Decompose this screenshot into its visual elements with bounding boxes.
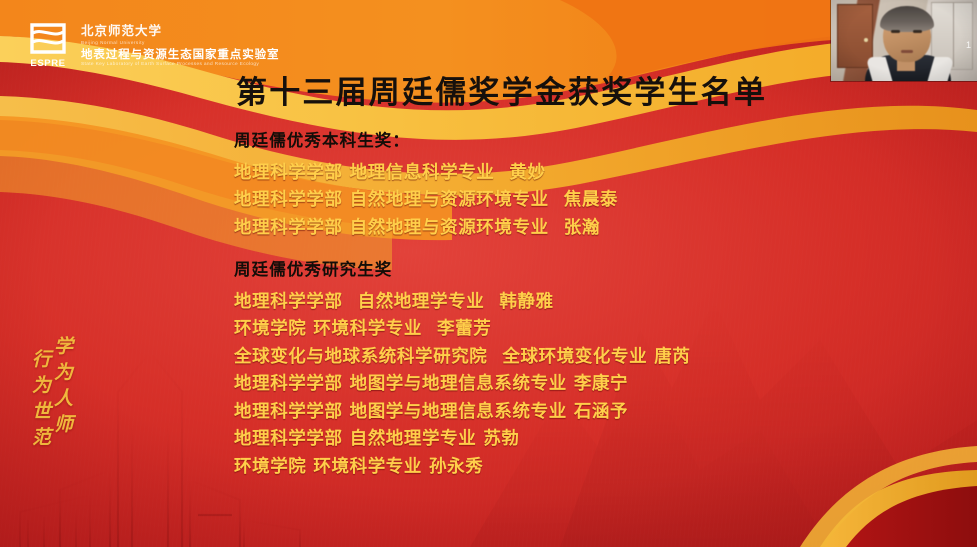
section-heading: 周廷儒优秀研究生奖 [234, 260, 947, 281]
entry-department: 地理科学学部 [234, 292, 343, 312]
entry-department: 地理科学学部 [234, 374, 343, 394]
entry-major: 环境科学专业 [313, 457, 422, 477]
entry-name: 张瀚 [564, 218, 600, 238]
entry-major: 全球环境变化专业 [502, 347, 647, 367]
entry-name: 李蕾芳 [437, 319, 491, 339]
entry-department: 环境学院 [234, 457, 306, 477]
entry-name: 孙永秀 [429, 457, 483, 477]
university-name-cn: 北京师范大学 [81, 24, 279, 37]
entry-department: 地理科学学部 [234, 190, 343, 210]
university-motto: 学为人师 行为世范 [30, 336, 71, 453]
entry-major: 地理信息科学专业 [350, 163, 495, 183]
entry-department: 地理科学学部 [234, 218, 343, 238]
entry-name: 唐芮 [654, 347, 690, 367]
award-entry: 地理科学学部自然地理与资源环境专业焦晨泰 [234, 187, 947, 215]
section-undergraduate: 周廷儒优秀本科生奖： 地理科学学部地理信息科学专业黄妙 地理科学学部自然地理与资… [234, 131, 947, 242]
entry-name: 苏勃 [483, 429, 519, 449]
motto-line-1: 学为人师 [52, 336, 71, 453]
video-tile-label: 1 [966, 40, 971, 50]
award-entry: 全球变化与地球系统科学研究院全球环境变化专业唐芮 [234, 344, 947, 372]
entry-department: 地理科学学部 [234, 402, 343, 422]
entry-department: 地理科学学部 [234, 163, 343, 183]
lab-name-cn: 地表过程与资源生态国家重点实验室 [81, 48, 279, 61]
entry-major: 自然地理学专业 [350, 429, 477, 449]
lab-name-en: State Key Laboratory of Earth Surface Pr… [81, 62, 279, 67]
entry-major: 自然地理学专业 [358, 292, 485, 312]
video-participant-tile[interactable]: 1 [831, 0, 977, 81]
university-name-en: Beijing Normal University [81, 40, 279, 45]
award-entry: 地理科学学部地图学与地理信息系统专业石涵予 [234, 399, 947, 427]
award-entry: 地理科学学部自然地理学专业韩静雅 [234, 289, 947, 317]
slide-title: 第十三届周廷儒奖学金获奖学生名单 [236, 76, 836, 110]
entry-name: 黄妙 [509, 163, 545, 183]
entry-name: 石涵予 [574, 402, 628, 422]
award-entry: 环境学院环境科学专业李蕾芳 [234, 316, 947, 344]
espre-wordmark: ESPRE [24, 58, 72, 69]
motto-line-2: 行为世范 [30, 336, 49, 453]
award-entry: 地理科学学部地理信息科学专业黄妙 [234, 160, 947, 188]
presentation-slide: ESPRE 北京师范大学 Beijing Normal University 地… [0, 0, 977, 547]
entry-major: 地图学与地理信息系统专业 [350, 402, 567, 422]
award-list: 周廷儒优秀本科生奖： 地理科学学部地理信息科学专业黄妙 地理科学学部自然地理与资… [234, 131, 947, 481]
entry-major: 地图学与地理信息系统专业 [350, 374, 567, 394]
entry-major: 环境科学专业 [313, 319, 422, 339]
section-graduate: 周廷儒优秀研究生奖 地理科学学部自然地理学专业韩静雅 环境学院环境科学专业李蕾芳… [234, 260, 947, 481]
entry-name: 焦晨泰 [564, 190, 618, 210]
award-entry: 地理科学学部地图学与地理信息系统专业李康宁 [234, 371, 947, 399]
entry-department: 地理科学学部 [234, 429, 343, 449]
entry-major: 自然地理与资源环境专业 [350, 218, 549, 238]
entry-department: 环境学院 [234, 319, 306, 339]
section-heading: 周廷儒优秀本科生奖： [234, 131, 947, 152]
entry-major: 自然地理与资源环境专业 [350, 190, 549, 210]
espre-logo-icon: ESPRE [24, 22, 72, 68]
video-blur-overlay [831, 0, 977, 81]
entry-department: 全球变化与地球系统科学研究院 [234, 347, 487, 367]
award-entry: 地理科学学部自然地理学专业苏勃 [234, 426, 947, 454]
award-entry: 环境学院环境科学专业孙永秀 [234, 454, 947, 482]
entry-name: 李康宁 [574, 374, 628, 394]
lab-logo: ESPRE 北京师范大学 Beijing Normal University 地… [24, 22, 279, 68]
entry-name: 韩静雅 [499, 292, 553, 312]
award-entry: 地理科学学部自然地理与资源环境专业张瀚 [234, 215, 947, 243]
